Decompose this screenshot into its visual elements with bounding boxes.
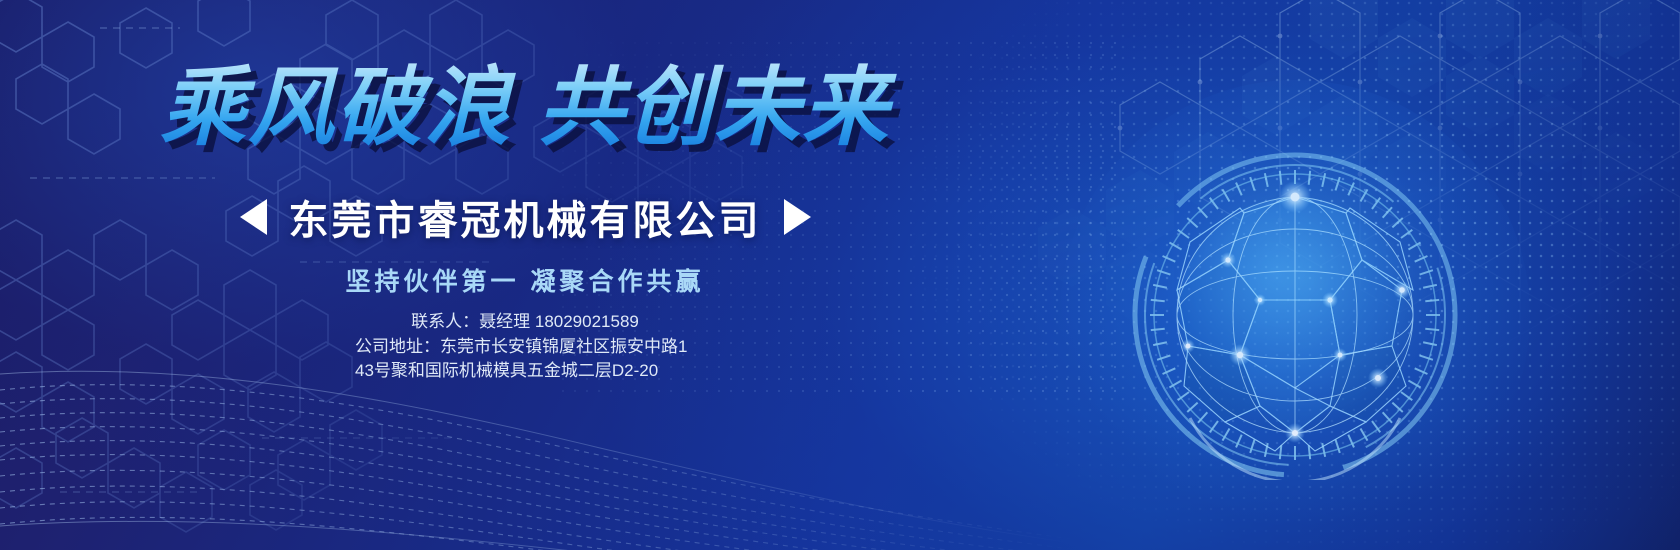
contact-person-label: 联系人： <box>411 312 479 331</box>
left-triangle-icon <box>240 199 267 235</box>
contact-person-name: 聂经理 <box>479 312 530 331</box>
promo-banner: 乘风破浪 共创未来 东莞市睿冠机械有限公司 坚持伙伴第一 凝聚合作共赢 联系人：… <box>0 0 1680 550</box>
globe-glow <box>1060 80 1530 550</box>
headline: 乘风破浪 共创未来 <box>0 62 1050 155</box>
contact-person-line: 联系人：聂经理 18029021589 <box>0 310 1050 335</box>
contact-block: 联系人：聂经理 18029021589 公司地址：东莞市长安镇锦厦社区振安中路1… <box>0 310 1050 384</box>
contact-address-line: 公司地址：东莞市长安镇锦厦社区振安中路143号聚和国际机械模具五金城二层D2-2… <box>355 335 695 384</box>
network-globe <box>1130 150 1460 480</box>
contact-address-label: 公司地址： <box>355 337 440 356</box>
right-triangle-icon <box>784 199 811 235</box>
company-name: 东莞市睿冠机械有限公司 <box>289 188 762 246</box>
company-name-row: 东莞市睿冠机械有限公司 <box>0 188 1050 246</box>
tagline: 坚持伙伴第一 凝聚合作共赢 <box>0 262 1050 298</box>
contact-phone: 18029021589 <box>535 312 639 331</box>
